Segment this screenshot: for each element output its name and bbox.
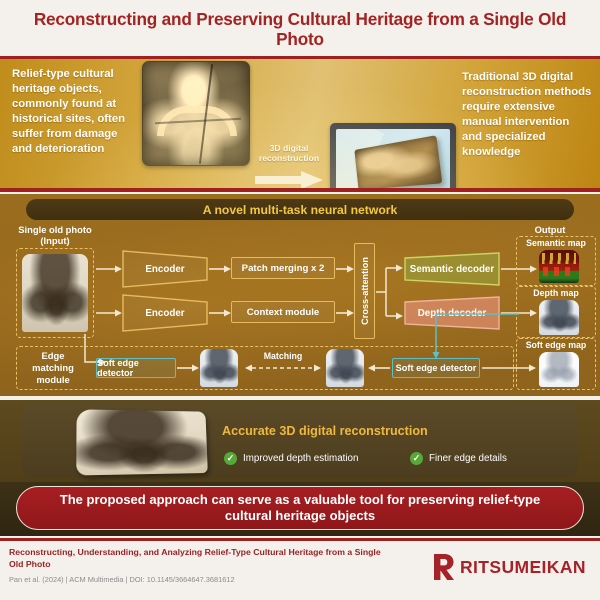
arrow-crossattention-split <box>376 256 404 328</box>
problem-right-text: Traditional 3D digital reconstruction me… <box>462 70 592 160</box>
citation-line: Pan et al. (2024) | ACM Multimedia | DOI… <box>9 575 409 585</box>
check-icon: ✓ <box>224 452 237 465</box>
check-icon: ✓ <box>410 452 423 465</box>
title-band: Reconstructing and Preserving Cultural H… <box>0 0 600 56</box>
soft-edge-map-label: Soft edge map <box>516 340 596 350</box>
arrow-detector-left-to-thumb <box>177 363 199 373</box>
arrow-input-to-encoder-top <box>96 264 122 274</box>
edge-thumb-left <box>200 349 238 387</box>
arrow-detector-to-softedgemap <box>482 363 536 373</box>
ritsumeikan-logo: RITSUMEIKAN <box>432 552 592 582</box>
result-title: Accurate 3D digital reconstruction <box>222 424 428 438</box>
monitor-bezel <box>330 123 456 190</box>
encoder-bottom-block: Encoder <box>122 294 208 332</box>
result-bullet-2-label: Finer edge details <box>429 453 507 464</box>
right-arrow-icon <box>255 171 323 189</box>
edge-matching-module-label: Edge matching module <box>22 350 84 385</box>
output-label: Output <box>508 224 592 235</box>
cross-attention-block: Cross-attention <box>354 243 375 339</box>
depth-map-label: Depth map <box>516 288 596 298</box>
reconstruction-arrow-label: 3D digital reconstruction <box>252 143 326 164</box>
logo-wordmark: RITSUMEIKAN <box>460 557 586 578</box>
monitor-screen <box>336 129 450 190</box>
semantic-decoder-block: Semantic decoder <box>404 252 500 286</box>
infographic-poster: Reconstructing and Preserving Cultural H… <box>0 0 600 600</box>
network-header: A novel multi-task neural network <box>26 199 574 220</box>
semantic-map-image <box>539 250 579 283</box>
page-title: Reconstructing and Preserving Cultural H… <box>28 10 572 50</box>
arrow-encoder-to-patch <box>209 264 231 274</box>
arrow-context-to-crossattention <box>336 308 354 318</box>
input-label: Single old photo (Input) <box>7 224 103 247</box>
matching-double-arrow-icon <box>244 363 322 373</box>
arrow-detector-right-to-thumb <box>368 363 390 373</box>
monitor-illustration <box>330 123 456 190</box>
semantic-map-label: Semantic map <box>516 238 596 248</box>
old-photo-image <box>142 61 250 166</box>
input-relief-photo <box>22 254 88 332</box>
divider-problem-bottom <box>0 188 600 192</box>
problem-section: Relief-type cultural heritage objects, c… <box>0 59 600 190</box>
arrow-encoder-to-context <box>209 308 231 318</box>
patch-merging-block: Patch merging x 2 <box>231 257 335 279</box>
edge-thumb-right <box>326 349 364 387</box>
matching-label: Matching <box>246 351 320 361</box>
conclusion-banner: The proposed approach can serve as a val… <box>16 486 584 530</box>
network-section: A novel multi-task neural network Single… <box>0 194 600 396</box>
input-photo-frame <box>16 248 94 338</box>
divider-footer-top <box>0 538 600 541</box>
result-bullet-1-label: Improved depth estimation <box>243 453 358 464</box>
depth-map-image <box>539 300 579 335</box>
semantic-decoder-label: Semantic decoder <box>404 252 500 286</box>
encoder-top-label: Encoder <box>122 250 208 288</box>
encoder-bottom-label: Encoder <box>122 294 208 332</box>
logo-r-mark-icon <box>432 553 455 581</box>
arrow-depth-feedback <box>430 312 520 362</box>
result-3d-model-image <box>76 409 208 475</box>
result-bullet-1: ✓ Improved depth estimation <box>224 452 358 465</box>
soft-edge-map-image <box>539 352 579 387</box>
paper-title-citation: Reconstructing, Understanding, and Analy… <box>9 547 389 570</box>
soft-edge-detector-left: Soft edge detector <box>96 358 176 378</box>
cross-attention-label: Cross-attention <box>360 257 370 325</box>
encoder-top-block: Encoder <box>122 250 208 288</box>
context-module-block: Context module <box>231 301 335 323</box>
arrow-patch-to-crossattention <box>336 264 354 274</box>
result-bullet-2: ✓ Finer edge details <box>410 452 507 465</box>
arrow-input-to-encoder-bottom <box>96 308 122 318</box>
problem-left-text: Relief-type cultural heritage objects, c… <box>12 67 136 157</box>
